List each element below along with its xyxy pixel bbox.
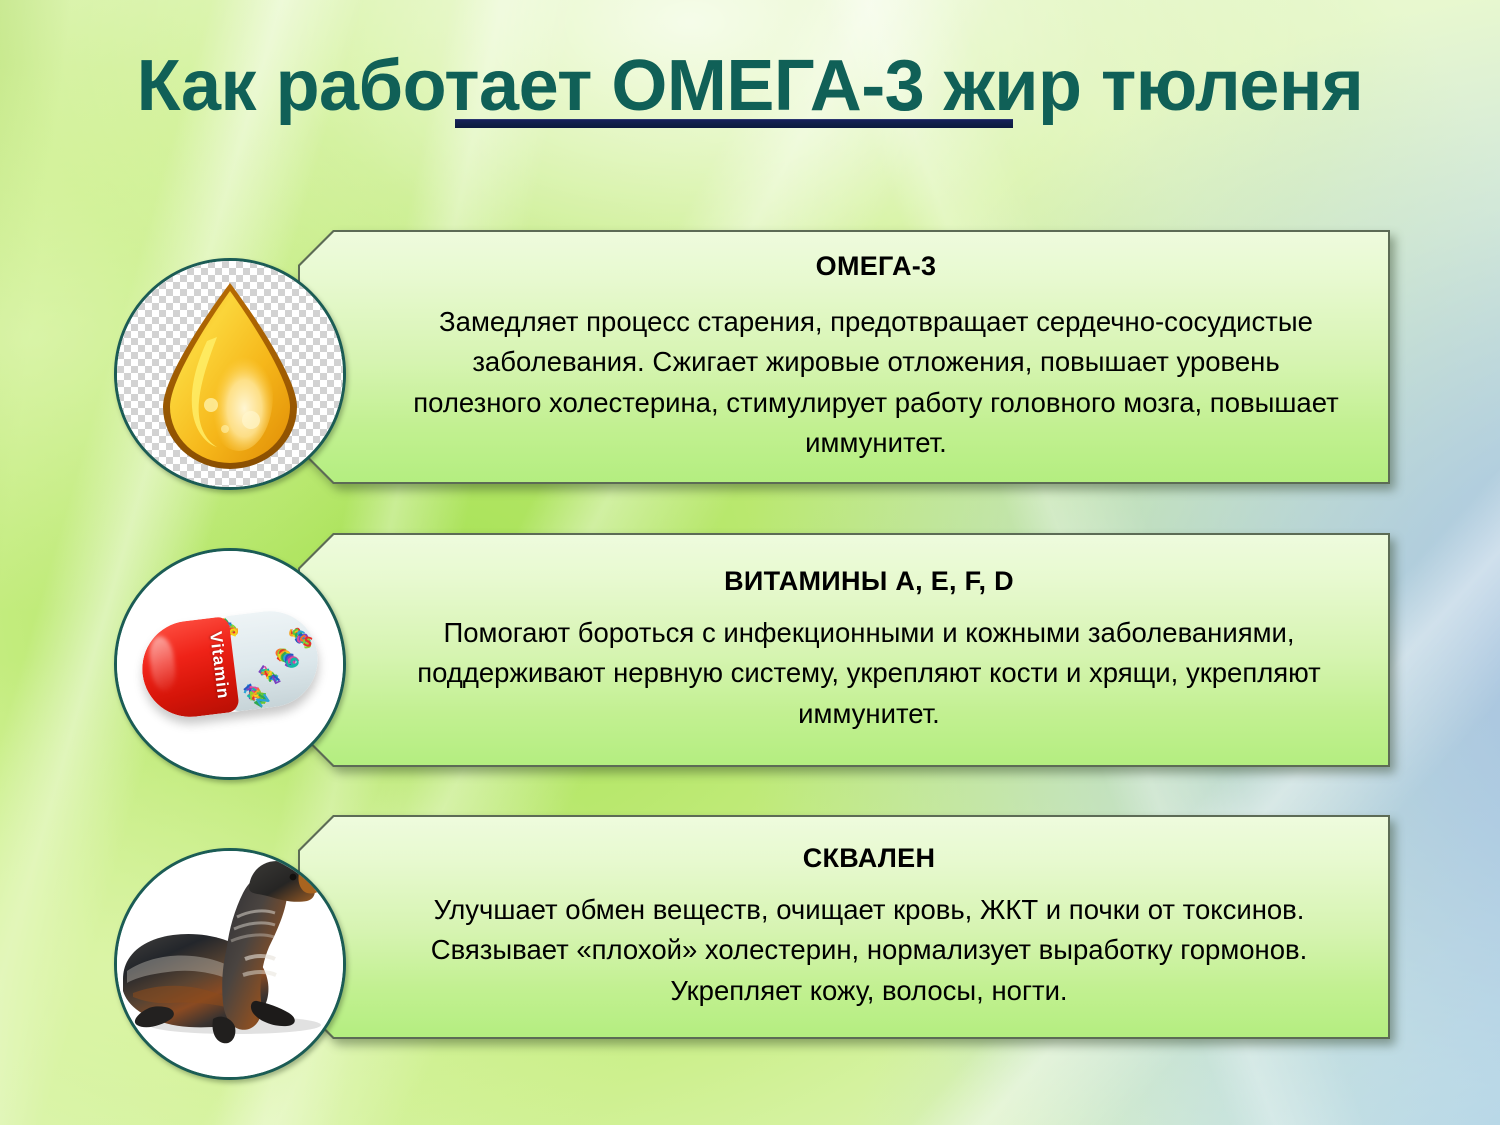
card-description: Замедляет процесс старения, предотвращае…: [410, 302, 1342, 463]
page-title: Как работает ОМЕГА-3 жир тюленя: [0, 48, 1500, 126]
seal-animal-image: [114, 848, 346, 1080]
card-body: СКВАЛЕН Улучшает обмен веществ, очищает …: [300, 817, 1388, 1037]
card-heading: СКВАЛЕН: [803, 843, 936, 874]
title-underline-rule: [455, 119, 1013, 128]
card-text-block: СКВАЛЕН Улучшает обмен веществ, очищает …: [300, 817, 1388, 1037]
capsule-letter: L: [269, 672, 282, 688]
card-heading: ВИТАМИНЫ A, E, F, D: [724, 566, 1014, 597]
card-description: Улучшает обмен веществ, очищает кровь, Ж…: [396, 890, 1342, 1010]
seal-graphic: [117, 851, 343, 1077]
card-text-block: ВИТАМИНЫ A, E, F, D Помогают бороться с …: [300, 535, 1388, 765]
capsule-shape: Vitamin DLSZ6DLSZ6DLSZ6DLSZ6DLSZ6DLSZ6DL…: [137, 606, 323, 723]
slide-canvas: Как работает ОМЕГА-3 жир тюленя ОМЕГА-3 …: [0, 0, 1500, 1125]
card-heading: ОМЕГА-3: [816, 251, 937, 282]
vitamin-capsule-image: Vitamin DLSZ6DLSZ6DLSZ6DLSZ6DLSZ6DLSZ6DL…: [114, 548, 346, 780]
card-body: ВИТАМИНЫ A, E, F, D Помогают бороться с …: [300, 535, 1388, 765]
oil-drop-image: [114, 258, 346, 490]
card-text-block: ОМЕГА-3 Замедляет процесс старения, пред…: [300, 232, 1388, 482]
content-card-omega3: ОМЕГА-3 Замедляет процесс старения, пред…: [300, 232, 1388, 482]
card-body: ОМЕГА-3 Замедляет процесс старения, пред…: [300, 232, 1388, 482]
vitamin-capsule-graphic: Vitamin DLSZ6DLSZ6DLSZ6DLSZ6DLSZ6DLSZ6DL…: [117, 551, 343, 777]
title-block: Как работает ОМЕГА-3 жир тюленя: [0, 48, 1500, 126]
content-card-vitamins: ВИТАМИНЫ A, E, F, D Помогают бороться с …: [300, 535, 1388, 765]
card-description: Помогают бороться с инфекционными и кожн…: [396, 613, 1342, 733]
oil-drop-graphic: [117, 261, 343, 487]
content-card-squalene: СКВАЛЕН Улучшает обмен веществ, очищает …: [300, 817, 1388, 1037]
